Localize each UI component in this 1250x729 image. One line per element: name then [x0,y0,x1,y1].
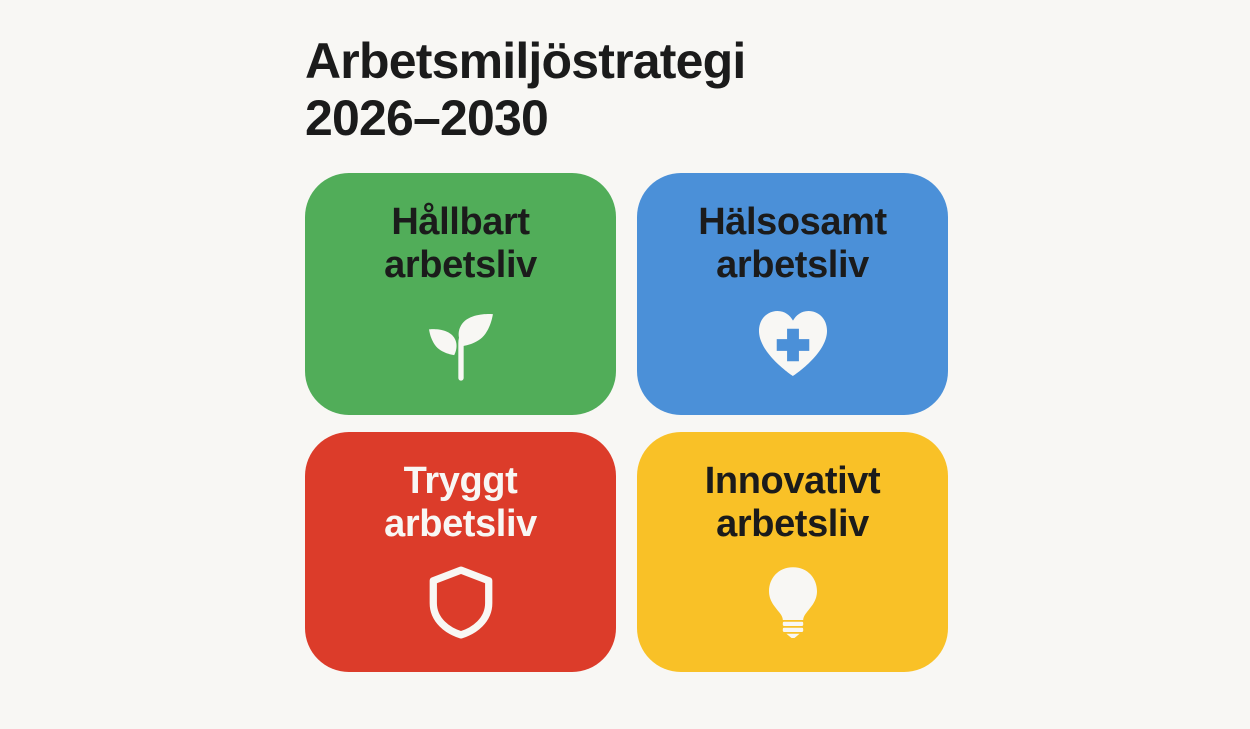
card-title: Hållbart arbetsliv [374,201,547,286]
card-innovativt-arbetsliv[interactable]: Innovativt arbetsliv [637,432,948,672]
strategy-poster: Arbetsmiljöstrategi 2026–2030 Hållbart a… [0,0,1250,729]
card-title: Tryggt arbetsliv [374,460,547,545]
card-title-line-1: Hälsosamt [698,201,887,244]
card-title: Hälsosamt arbetsliv [688,201,897,286]
heart-with-cross-icon [754,300,832,386]
card-title-line-2: arbetsliv [698,244,887,287]
card-halsosamt-arbetsliv[interactable]: Hälsosamt arbetsliv [637,173,948,415]
plant-sprout-icon [422,300,500,386]
card-title-line-1: Hållbart [384,201,537,244]
card-title-line-2: arbetsliv [384,503,537,546]
card-title: Innovativt arbetsliv [695,460,890,545]
card-title-line-2: arbetsliv [384,244,537,287]
card-title-line-1: Tryggt [384,460,537,503]
page-title-line-1: Arbetsmiljöstrategi [305,33,945,90]
card-title-line-1: Innovativt [705,460,880,503]
shield-icon [422,559,500,645]
page-title-line-2: 2026–2030 [305,90,945,147]
card-tryggt-arbetsliv[interactable]: Tryggt arbetsliv [305,432,616,672]
strategy-card-grid: Hållbart arbetsliv Hälsosamt arbetsliv [305,173,948,672]
card-hallbart-arbetsliv[interactable]: Hållbart arbetsliv [305,173,616,415]
page-title: Arbetsmiljöstrategi 2026–2030 [305,33,945,146]
card-title-line-2: arbetsliv [705,503,880,546]
lightbulb-icon [754,559,832,645]
